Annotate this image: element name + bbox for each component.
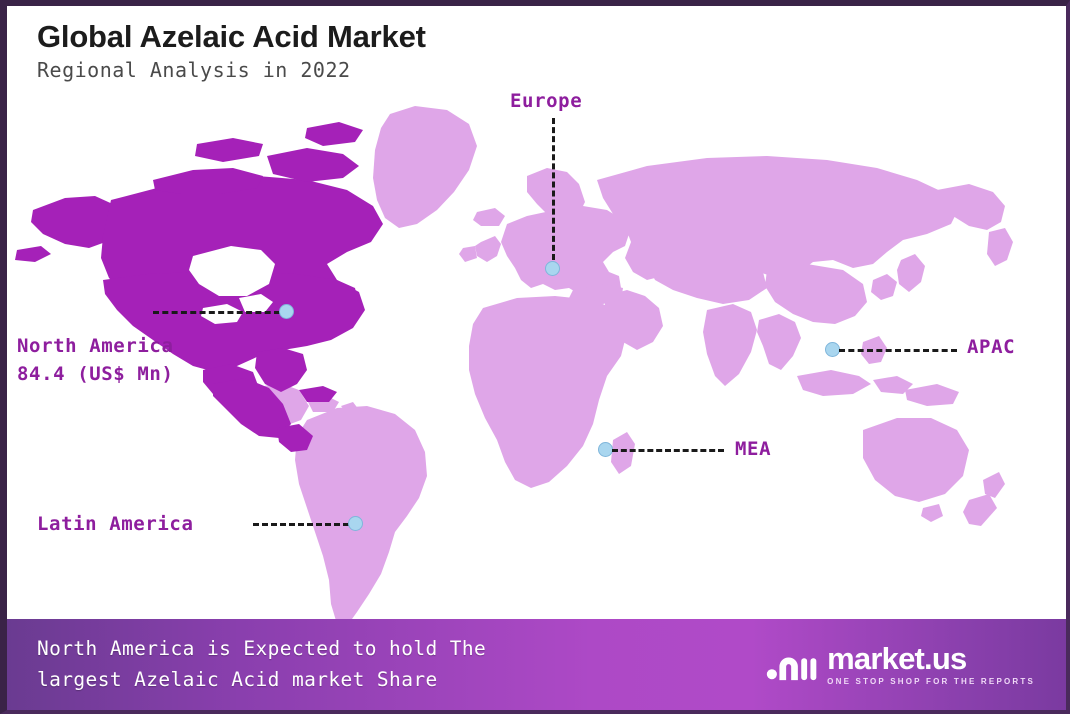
region-label-mea[interactable]: MEA xyxy=(735,438,771,462)
region-label-north-america-name: North America xyxy=(17,333,174,361)
market-us-logo[interactable]: market.us ONE STOP SHOP FOR THE REPORTS xyxy=(766,643,1047,686)
footer-callout-line-1: North America is Expected to hold The xyxy=(37,634,486,664)
marker-dot-north-america[interactable] xyxy=(279,304,294,319)
footer-banner: North America is Expected to hold The la… xyxy=(7,619,1069,710)
region-value-north-america: 84.4 (US$ Mn) xyxy=(17,361,174,389)
logo-wordmark: market.us xyxy=(827,643,1035,674)
region-label-europe[interactable]: Europe xyxy=(510,90,582,114)
marker-dot-apac[interactable] xyxy=(825,342,840,357)
marker-dot-mea[interactable] xyxy=(598,442,613,457)
marker-dot-europe[interactable] xyxy=(545,261,560,276)
bars-arch-icon xyxy=(766,645,818,685)
footer-callout-line-2: largest Azelaic Acid market Share xyxy=(37,665,486,695)
page-title: Global Azelaic Acid Market xyxy=(37,20,426,54)
logo-text-block: market.us ONE STOP SHOP FOR THE REPORTS xyxy=(827,643,1035,686)
header: Global Azelaic Acid Market Regional Anal… xyxy=(37,20,426,82)
region-label-latin-america[interactable]: Latin America xyxy=(37,513,194,537)
logo-tagline: ONE STOP SHOP FOR THE REPORTS xyxy=(827,677,1035,686)
region-label-apac[interactable]: APAC xyxy=(967,336,1015,360)
region-label-north-america[interactable]: North America 84.4 (US$ Mn) xyxy=(17,333,174,388)
page-subtitle: Regional Analysis in 2022 xyxy=(37,58,426,82)
infographic-canvas: Global Azelaic Acid Market Regional Anal… xyxy=(0,0,1070,714)
marker-dot-latin-america[interactable] xyxy=(348,516,363,531)
footer-callout: North America is Expected to hold The la… xyxy=(37,634,486,694)
